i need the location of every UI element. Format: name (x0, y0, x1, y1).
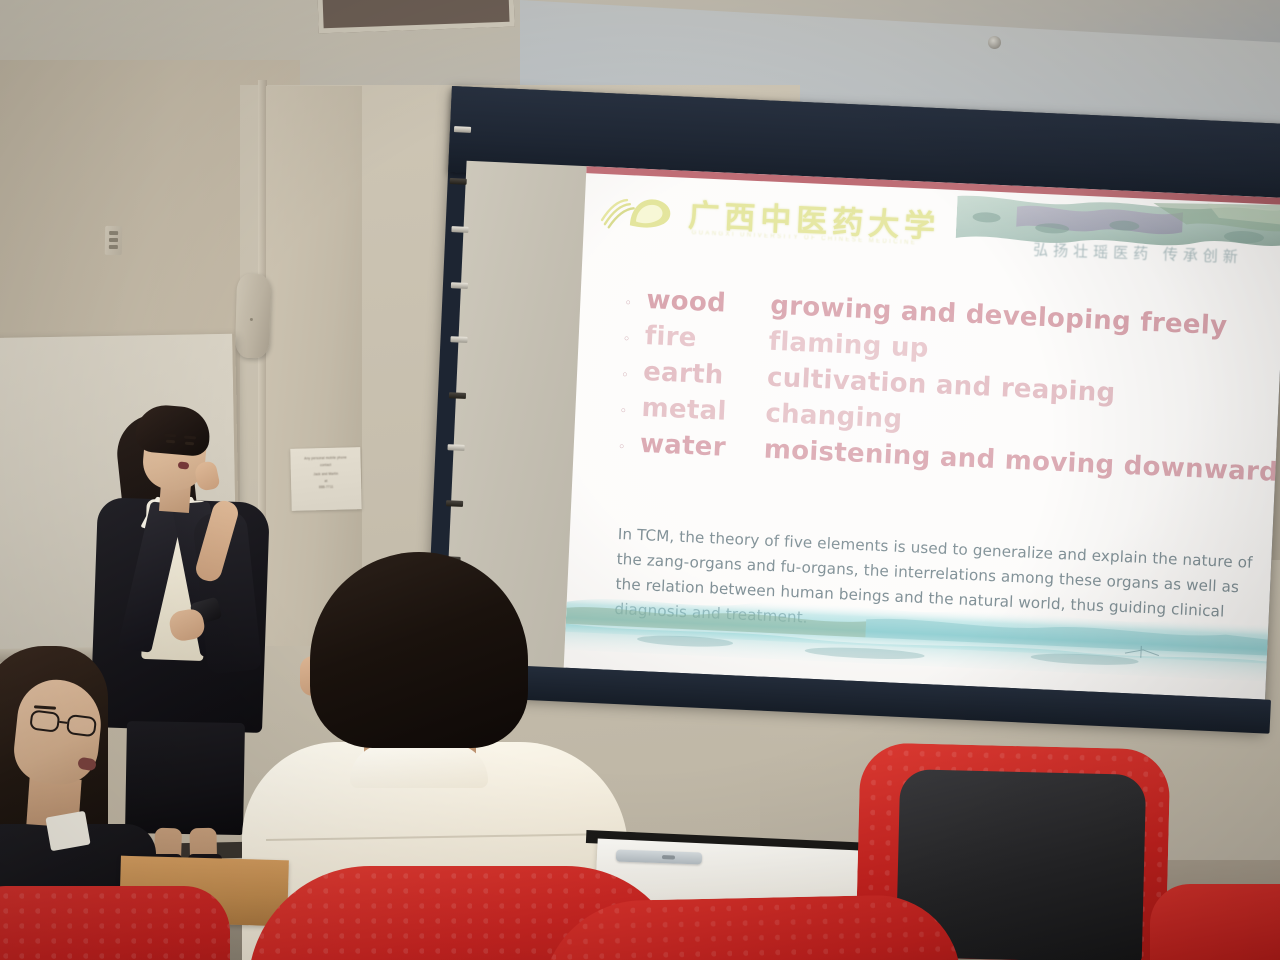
slide-content: 广西中医药大学 GUANGXI UNIVERSITY OF CHINESE ME… (564, 166, 1280, 699)
notice-line-5: 888-7711 (295, 483, 357, 491)
element-description: flaming up (768, 327, 929, 364)
sprinkler-head-icon (988, 36, 1001, 49)
element-term: metal (641, 393, 766, 429)
chair-far-right[interactable] (1150, 884, 1280, 960)
element-term: fire (644, 321, 769, 357)
element-term: earth (643, 357, 768, 393)
element-term: water (639, 429, 764, 465)
bullet-marker-icon: ◦ (621, 369, 644, 383)
bullet-marker-icon: ◦ (617, 441, 640, 455)
header-watercolor-art: 弘扬壮瑶医药 传承创新 (954, 190, 1280, 283)
power-outlet-icon[interactable] (105, 226, 123, 255)
chair-red-left[interactable] (0, 886, 230, 960)
bullet-marker-icon: ◦ (619, 405, 642, 419)
wall-notice-sign: Any personal mobile phone contact Jack a… (290, 447, 361, 511)
element-term: wood (646, 285, 771, 321)
bullet-marker-icon: ◦ (624, 297, 647, 311)
lecture-hall-photo: Any personal mobile phone contact Jack a… (0, 0, 1280, 960)
element-description: changing (765, 399, 903, 435)
university-logo-icon (600, 190, 688, 236)
five-elements-list: ◦ wood growing and developing freely ◦ f… (617, 284, 1265, 493)
bullet-marker-icon: ◦ (622, 333, 645, 347)
wall-speaker-icon (235, 274, 271, 359)
